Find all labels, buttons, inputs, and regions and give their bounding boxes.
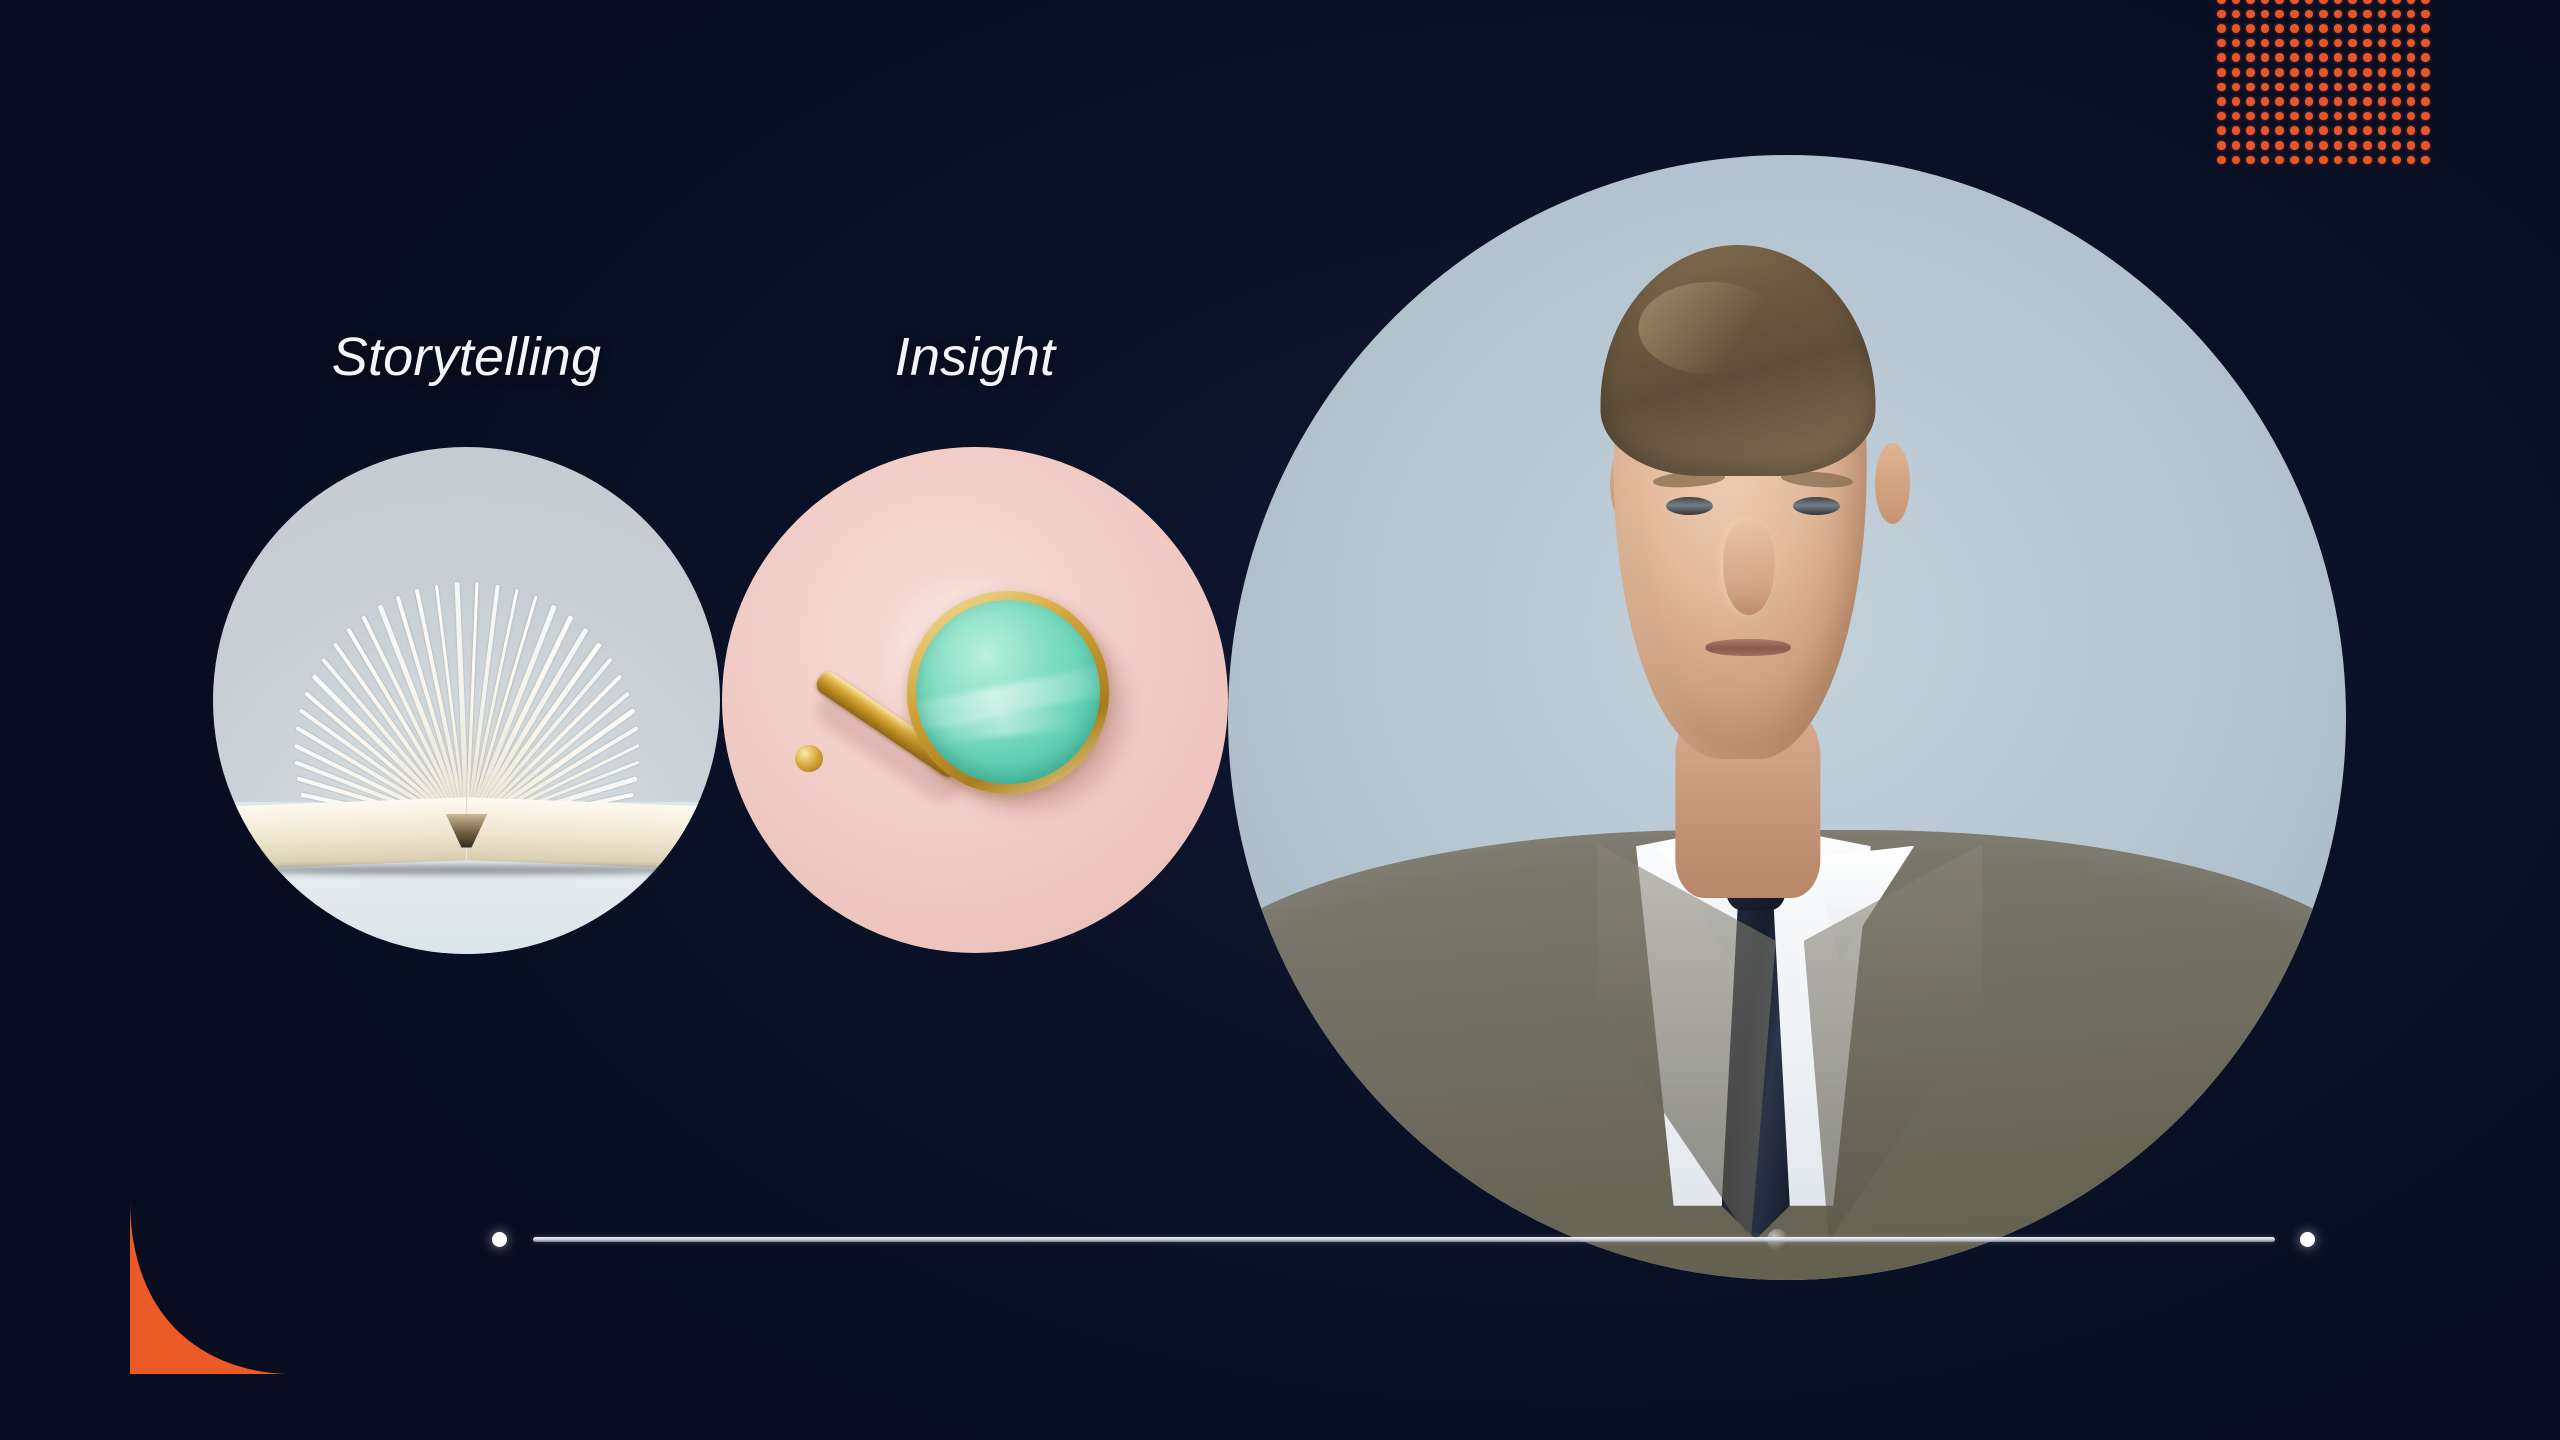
dot-grid-dot <box>2360 153 2375 168</box>
dot-grid-dot <box>2389 50 2404 65</box>
dot-grid-dot <box>2272 153 2287 168</box>
dot-grid-row <box>2214 65 2442 80</box>
dot-grid-dot <box>2360 50 2375 65</box>
dot-grid-dot <box>2243 36 2258 51</box>
dot-grid-dot <box>2375 80 2390 95</box>
dot-grid-dot <box>2418 123 2433 138</box>
dot-grid-dot <box>2360 0 2375 7</box>
dot-grid-dot <box>2243 21 2258 36</box>
dot-grid-dot <box>2287 21 2302 36</box>
nose <box>1723 521 1774 616</box>
dot-grid-dot <box>2345 7 2360 22</box>
dot-grid-dot <box>2214 36 2229 51</box>
dot-grid-dot <box>2258 21 2273 36</box>
dot-grid-dot <box>2243 0 2258 7</box>
dot-grid-dot <box>2243 7 2258 22</box>
dot-grid-dot <box>2418 50 2433 65</box>
dot-grid-dot <box>2418 36 2433 51</box>
dot-grid-dot <box>2214 50 2229 65</box>
dot-grid-dot <box>2302 50 2317 65</box>
dot-grid-dot <box>2345 65 2360 80</box>
dot-grid-row <box>2214 109 2442 124</box>
dot-grid-dot <box>2258 80 2273 95</box>
dot-grid-dot <box>2229 21 2244 36</box>
dot-grid-dot <box>2258 36 2273 51</box>
dot-grid-dot <box>2360 21 2375 36</box>
dot-grid-dot <box>2214 123 2229 138</box>
dot-grid-dot <box>2389 36 2404 51</box>
dot-grid-dot <box>2287 94 2302 109</box>
dot-grid-row <box>2214 50 2442 65</box>
dot-grid-dot <box>2389 21 2404 36</box>
dot-grid-dot <box>2418 65 2433 80</box>
dot-grid-row <box>2214 123 2442 138</box>
dot-grid-row <box>2214 80 2442 95</box>
dot-grid-dot <box>2229 65 2244 80</box>
dot-grid-dot <box>2243 109 2258 124</box>
dot-grid-dot <box>2302 65 2317 80</box>
dot-grid-dot <box>2272 80 2287 95</box>
dot-grid-dot <box>2360 80 2375 95</box>
dot-grid-dot <box>2389 0 2404 7</box>
dot-grid-dot <box>2243 123 2258 138</box>
dot-grid-dot <box>2272 65 2287 80</box>
card-label-insight: Insight <box>722 330 1228 384</box>
dot-grid-dot <box>2389 65 2404 80</box>
dot-grid-dot <box>2229 109 2244 124</box>
dot-grid-row <box>2214 7 2442 22</box>
dot-grid-dot <box>2214 0 2229 7</box>
dot-grid-dot <box>2272 21 2287 36</box>
eye-right <box>1793 497 1840 515</box>
dot-grid-dot <box>2331 36 2346 51</box>
dot-grid-dot <box>2229 7 2244 22</box>
dot-grid-dot <box>2360 36 2375 51</box>
dot-grid-dot <box>2214 153 2229 168</box>
dot-grid-dot <box>2316 50 2331 65</box>
dot-grid-dot <box>2331 65 2346 80</box>
dot-grid-dot <box>2316 7 2331 22</box>
dot-grid-dot <box>2287 50 2302 65</box>
magnifier-lens <box>916 600 1100 784</box>
dot-grid-dot <box>2258 65 2273 80</box>
dot-grid-dot <box>2272 138 2287 153</box>
dot-grid-dot <box>2389 138 2404 153</box>
dot-grid-dot <box>2316 109 2331 124</box>
dot-grid-dot <box>2229 36 2244 51</box>
dot-grid-dot <box>2418 21 2433 36</box>
dot-grid-dot <box>2287 36 2302 51</box>
dot-grid-dot <box>2331 21 2346 36</box>
dot-grid-dot <box>2404 36 2419 51</box>
dot-grid-dot <box>2302 21 2317 36</box>
dot-grid-dot <box>2316 153 2331 168</box>
dot-grid-dot <box>2229 0 2244 7</box>
dot-grid-dot <box>2345 50 2360 65</box>
dot-grid-dot <box>2302 123 2317 138</box>
mouth <box>1705 639 1790 656</box>
open-book-icon[interactable] <box>213 447 720 954</box>
dot-grid-dot <box>2287 0 2302 7</box>
ear-right <box>1875 443 1910 524</box>
dot-grid-dot <box>2316 65 2331 80</box>
dot-grid-dot <box>2258 138 2273 153</box>
eye-left <box>1666 497 1713 515</box>
dot-grid-dot <box>2302 109 2317 124</box>
dot-grid-dot <box>2302 138 2317 153</box>
dot-grid-row <box>2214 138 2442 153</box>
dot-grid-dot <box>2404 123 2419 138</box>
dot-grid-dot <box>2389 80 2404 95</box>
dot-grid-dot <box>2243 153 2258 168</box>
dot-grid-dot <box>2214 65 2229 80</box>
dot-grid-dot <box>2316 0 2331 7</box>
dot-grid-dot <box>2331 7 2346 22</box>
dot-grid-dot <box>2243 80 2258 95</box>
dot-grid-dot <box>2389 123 2404 138</box>
dot-grid-dot <box>2389 7 2404 22</box>
dot-grid-dot <box>2258 153 2273 168</box>
dot-grid-dot <box>2418 153 2433 168</box>
dot-grid-dot <box>2258 7 2273 22</box>
dot-grid-dot <box>2360 109 2375 124</box>
dot-grid-dot <box>2345 36 2360 51</box>
dot-grid-dot <box>2302 0 2317 7</box>
dot-grid-dot <box>2316 21 2331 36</box>
dot-grid-dot <box>2418 0 2433 7</box>
magnifier-knob <box>795 745 823 773</box>
dot-grid-dot <box>2375 94 2390 109</box>
dot-grid-dot <box>2418 94 2433 109</box>
book-right-block <box>467 797 715 870</box>
dot-grid-dot <box>2287 65 2302 80</box>
dot-grid-dot <box>2360 123 2375 138</box>
dot-grid-dot <box>2375 153 2390 168</box>
next-slide-dot[interactable] <box>2300 1232 2315 1247</box>
dot-grid-dot <box>2345 0 2360 7</box>
dot-grid-dot <box>2418 7 2433 22</box>
dot-grid-dot <box>2272 109 2287 124</box>
dot-grid-dot <box>2404 21 2419 36</box>
dot-grid-dot <box>2287 80 2302 95</box>
hair <box>1600 245 1875 476</box>
dot-grid-dot <box>2302 153 2317 168</box>
dot-grid-dot <box>2272 94 2287 109</box>
dot-grid-dot <box>2258 123 2273 138</box>
dot-grid-dot <box>2345 94 2360 109</box>
dot-grid-dot <box>2404 50 2419 65</box>
dot-grid-dot <box>2287 123 2302 138</box>
dot-grid-dot <box>2345 21 2360 36</box>
previous-slide-dot[interactable] <box>492 1232 507 1247</box>
dot-grid-dot <box>2418 109 2433 124</box>
dot-grid-dot <box>2418 80 2433 95</box>
dot-grid-dot <box>2345 109 2360 124</box>
dot-grid-dot <box>2375 36 2390 51</box>
presenter-figure <box>1228 155 2346 1280</box>
dot-grid-dot <box>2345 138 2360 153</box>
dot-grid-dot <box>2272 123 2287 138</box>
dot-grid-row <box>2214 36 2442 51</box>
book-left-block <box>218 797 466 870</box>
magnifier-ring <box>907 591 1109 793</box>
dot-grid-dot <box>2404 0 2419 7</box>
dot-grid-dot <box>2316 80 2331 95</box>
dot-grid-dot <box>2360 65 2375 80</box>
dot-grid-dot <box>2316 138 2331 153</box>
dot-grid-dot <box>2375 0 2390 7</box>
dot-grid-dot <box>2258 0 2273 7</box>
dot-grid-dot <box>2375 138 2390 153</box>
dot-grid-dot <box>2287 153 2302 168</box>
dot-grid-dot <box>2229 80 2244 95</box>
dot-grid-dot <box>2272 0 2287 7</box>
dot-grid-dot <box>2243 65 2258 80</box>
dot-grid-dot <box>2272 7 2287 22</box>
dot-grid-dot <box>2229 138 2244 153</box>
dot-grid-dot <box>2214 21 2229 36</box>
slide-progress-track[interactable] <box>533 1237 2275 1242</box>
dot-grid-dot <box>2302 36 2317 51</box>
dot-grid-dot <box>2229 94 2244 109</box>
dot-grid-row <box>2214 21 2442 36</box>
dot-grid-dot <box>2360 7 2375 22</box>
dot-grid-dot <box>2243 50 2258 65</box>
dot-grid-icon <box>2214 0 2442 168</box>
dot-grid-dot <box>2214 7 2229 22</box>
dot-grid-dot <box>2375 123 2390 138</box>
dot-grid-dot <box>2331 0 2346 7</box>
dot-grid-dot <box>2375 65 2390 80</box>
slide-canvas: Storytelling Insight <box>0 0 2560 1440</box>
dot-grid-dot <box>2404 94 2419 109</box>
presenter-portrait[interactable] <box>1228 155 2346 1280</box>
dot-grid-dot <box>2316 123 2331 138</box>
dot-grid-dot <box>2287 138 2302 153</box>
dot-grid-dot <box>2287 7 2302 22</box>
dot-grid-dot <box>2331 138 2346 153</box>
corner-curve-icon <box>130 1198 292 1374</box>
dot-grid-dot <box>2243 94 2258 109</box>
card-label-storytelling: Storytelling <box>213 330 720 384</box>
dot-grid-dot <box>2360 138 2375 153</box>
dot-grid-dot <box>2404 80 2419 95</box>
dot-grid-dot <box>2404 153 2419 168</box>
dot-grid-dot <box>2302 7 2317 22</box>
dot-grid-dot <box>2375 109 2390 124</box>
dot-grid-dot <box>2375 50 2390 65</box>
dot-grid-dot <box>2331 80 2346 95</box>
dot-grid-dot <box>2331 123 2346 138</box>
book-pages <box>213 447 720 954</box>
dot-grid-dot <box>2404 65 2419 80</box>
dot-grid-dot <box>2229 123 2244 138</box>
dot-grid-dot <box>2272 50 2287 65</box>
dot-grid-dot <box>2258 94 2273 109</box>
dot-grid-dot <box>2418 138 2433 153</box>
dot-grid-dot <box>2316 36 2331 51</box>
dot-grid-row <box>2214 0 2442 7</box>
dot-grid-dot <box>2287 109 2302 124</box>
dot-grid-dot <box>2229 153 2244 168</box>
dot-grid-dot <box>2375 7 2390 22</box>
dot-grid-dot <box>2302 94 2317 109</box>
dot-grid-dot <box>2302 80 2317 95</box>
dot-grid-dot <box>2375 21 2390 36</box>
dot-grid-dot <box>2331 50 2346 65</box>
dot-grid-dot <box>2404 7 2419 22</box>
dot-grid-dot <box>2331 109 2346 124</box>
dot-grid-dot <box>2258 109 2273 124</box>
dot-grid-dot <box>2272 36 2287 51</box>
dot-grid-dot <box>2214 109 2229 124</box>
dot-grid-dot <box>2345 123 2360 138</box>
dot-grid-dot <box>2316 94 2331 109</box>
dot-grid-dot <box>2331 153 2346 168</box>
magnifying-glass-icon[interactable] <box>722 447 1228 953</box>
dot-grid-row <box>2214 94 2442 109</box>
dot-grid-dot <box>2214 94 2229 109</box>
dot-grid-dot <box>2229 50 2244 65</box>
dot-grid-dot <box>2389 109 2404 124</box>
dot-grid-dot <box>2404 138 2419 153</box>
dot-grid-dot <box>2345 80 2360 95</box>
dot-grid-row <box>2214 153 2442 168</box>
dot-grid-dot <box>2331 94 2346 109</box>
dot-grid-dot <box>2389 153 2404 168</box>
dot-grid-dot <box>2214 80 2229 95</box>
dot-grid-dot <box>2258 50 2273 65</box>
dot-grid-dot <box>2389 94 2404 109</box>
dot-grid-dot <box>2404 109 2419 124</box>
dot-grid-dot <box>2214 138 2229 153</box>
dot-grid-dot <box>2345 153 2360 168</box>
dot-grid-dot <box>2243 138 2258 153</box>
dot-grid-dot <box>2360 94 2375 109</box>
